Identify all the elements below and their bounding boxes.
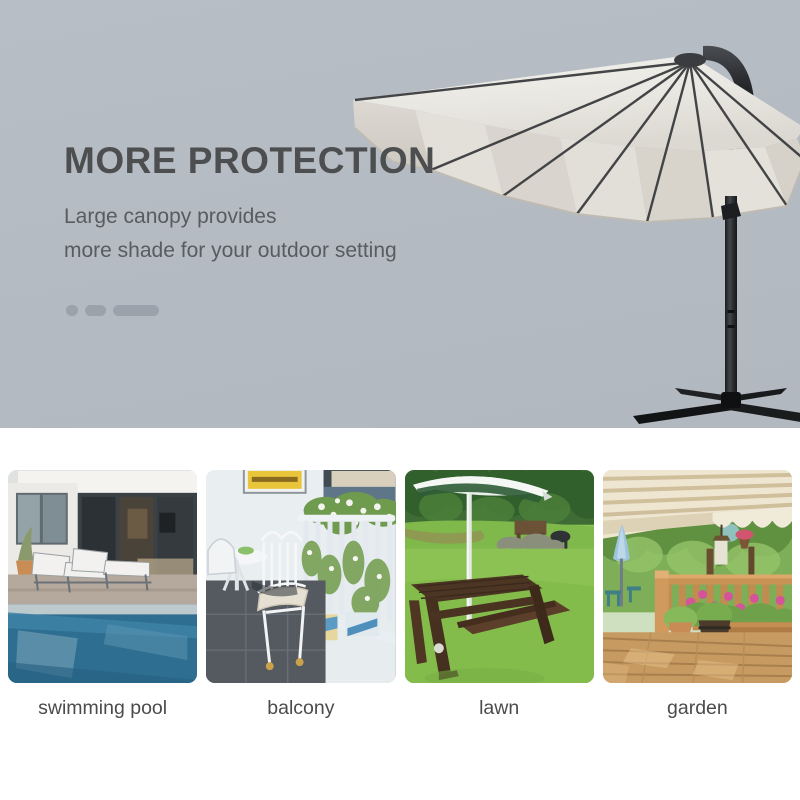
decor-dashes: [66, 305, 159, 316]
scene-card-lawn[interactable]: lawn: [405, 470, 594, 720]
pool-scene-icon: [8, 470, 197, 683]
hero-subtitle: Large canopy provides more shade for you…: [64, 200, 494, 268]
scene-label-balcony: balcony: [206, 697, 395, 720]
pole-bolt-lower: [728, 325, 735, 328]
page-title: MORE PROTECTION: [64, 140, 494, 181]
scene-card-balcony[interactable]: balcony: [206, 470, 395, 720]
hero-subtitle-line-2: more shade for your outdoor setting: [64, 234, 494, 268]
umbrella-hub: [674, 53, 706, 67]
decor-short-dash: [85, 305, 106, 316]
scene-label-swimming-pool: swimming pool: [8, 697, 197, 720]
balcony-scene-icon: [206, 470, 395, 683]
garden-scene-icon: [603, 470, 792, 683]
decor-long-dash: [113, 305, 159, 316]
scene-card-swimming-pool[interactable]: swimming pool: [8, 470, 197, 720]
decor-dot: [66, 305, 78, 316]
hero-copy: MORE PROTECTION Large canopy provides mo…: [64, 140, 494, 268]
umbrella-panel-5: [635, 147, 713, 222]
scene-card-garden[interactable]: garden: [603, 470, 792, 720]
hero-section: MORE PROTECTION Large canopy provides mo…: [0, 0, 800, 428]
scene-label-garden: garden: [603, 697, 792, 720]
product-banner: MORE PROTECTION Large canopy provides mo…: [0, 0, 800, 800]
pole-bolt-upper: [728, 310, 735, 313]
hero-subtitle-line-1: Large canopy provides: [64, 200, 494, 234]
umbrella-pole: [725, 196, 737, 406]
scene-gallery: swimming pool: [0, 470, 800, 720]
scene-label-lawn: lawn: [405, 697, 594, 720]
lawn-scene-icon: [405, 470, 594, 683]
umbrella-cross-base: [633, 388, 800, 424]
